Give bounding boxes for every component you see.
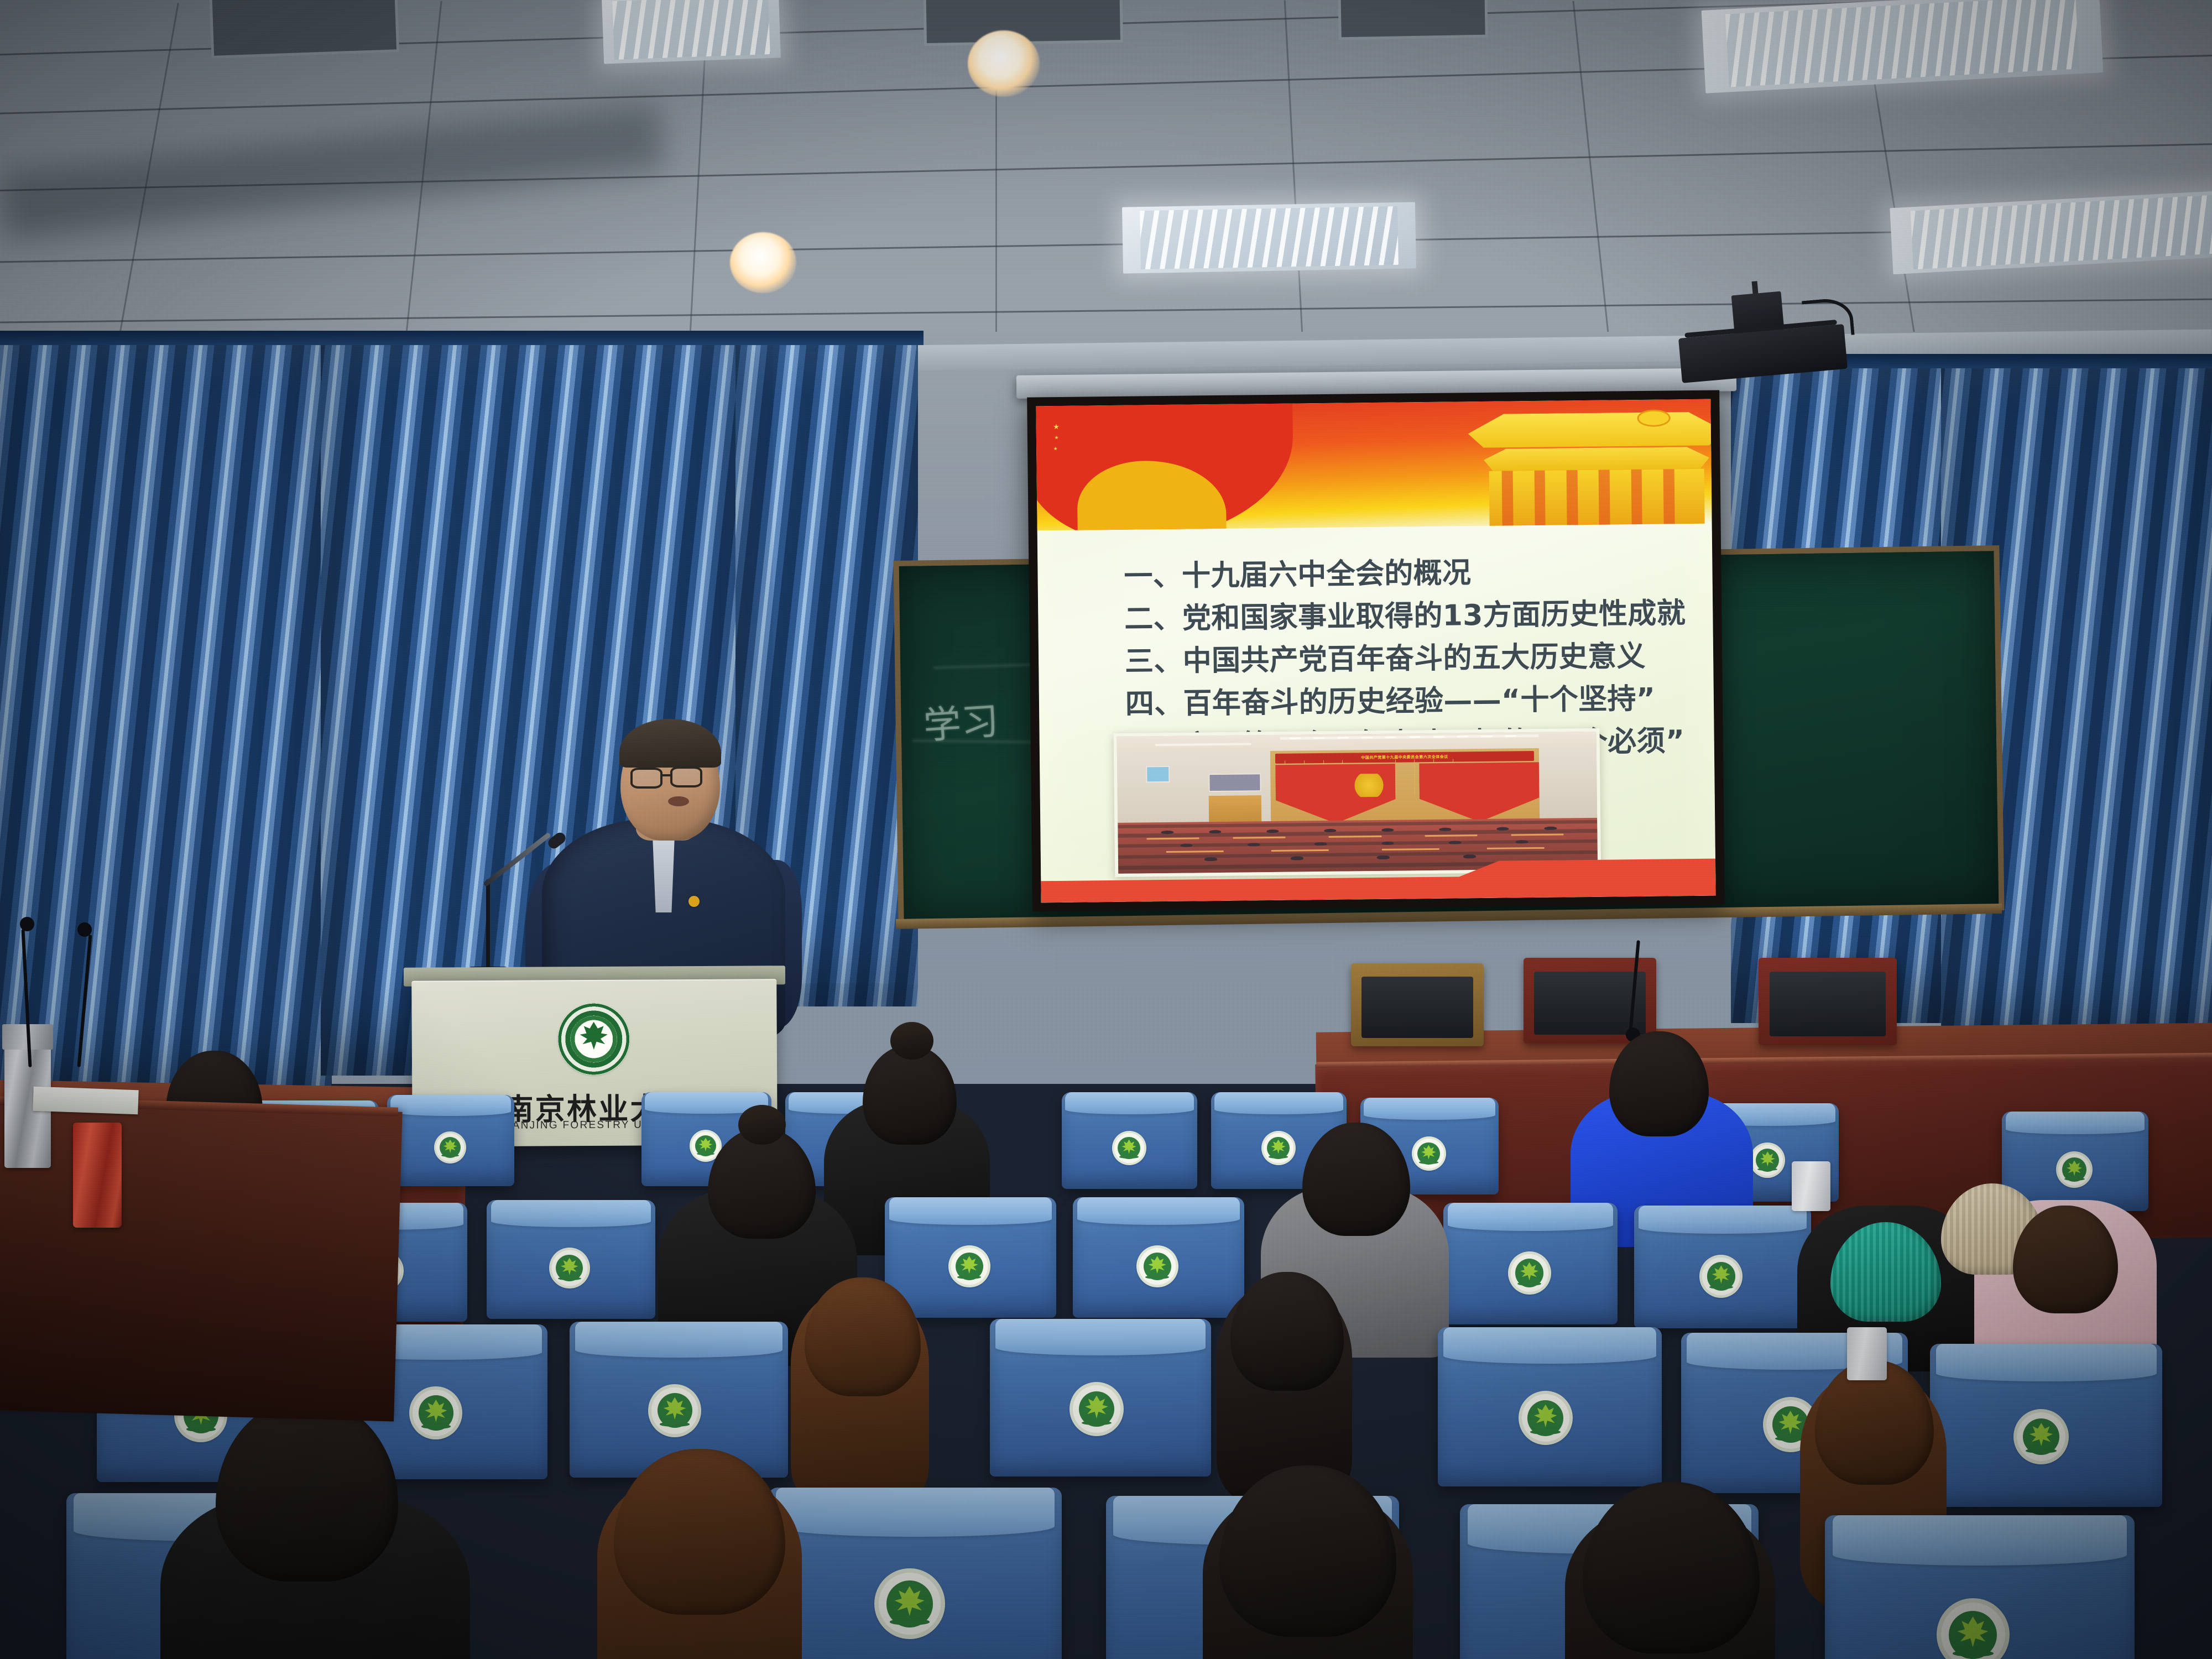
paper-sheet xyxy=(33,1087,138,1115)
seat-logo xyxy=(1937,1598,2010,1659)
seat-logo xyxy=(874,1568,945,1639)
stage-chair[interactable] xyxy=(1351,963,1484,1046)
seat-logo xyxy=(1519,1391,1573,1445)
auditorium-seat[interactable] xyxy=(769,1488,1062,1659)
slide-embedded-photo: 中国共产党第十九届中央委员会第六次全体会议 xyxy=(1114,728,1601,877)
presentation-slide: ★ ★ ★ xyxy=(1036,399,1715,903)
microphone-stand[interactable] xyxy=(486,879,490,973)
slide-agenda-item: 四、百年奋斗的历史经验——“十个坚持” xyxy=(1125,677,1670,726)
auditorium-seat[interactable] xyxy=(487,1200,655,1319)
star-icon: ★ xyxy=(1053,446,1058,451)
ceiling-light-panel xyxy=(1702,0,2104,93)
seat-logo xyxy=(648,1384,701,1437)
seat-logo xyxy=(1070,1382,1124,1436)
star-icon: ★ xyxy=(1054,435,1058,440)
tiananmen-gate-icon xyxy=(1468,404,1712,530)
auditorium-seat[interactable] xyxy=(990,1319,1211,1477)
seat-logo xyxy=(1699,1255,1743,1298)
party-emblem-icon xyxy=(1352,774,1386,797)
slide-header-banner: ★ ★ ★ xyxy=(1036,399,1712,530)
auditorium-seat[interactable] xyxy=(1438,1327,1662,1486)
podium-logo xyxy=(557,1003,630,1076)
stage-chair[interactable] xyxy=(1759,958,1897,1045)
recessed-downlight xyxy=(968,30,1040,97)
lapel-badge xyxy=(688,896,700,907)
slide-agenda-item: 二、党和国家事业取得的13方面历史性成就 xyxy=(1124,592,1670,640)
projection-screen[interactable]: ★ ★ ★ xyxy=(1027,390,1725,911)
seat-logo xyxy=(1412,1136,1446,1171)
mouth xyxy=(668,796,689,806)
auditorium-seat[interactable] xyxy=(885,1197,1056,1318)
seat-logo xyxy=(409,1386,462,1439)
ceiling-light-panel xyxy=(1122,202,1416,273)
auditorium-seat[interactable] xyxy=(1634,1206,1811,1328)
auditorium-seat[interactable] xyxy=(1443,1203,1618,1324)
recessed-downlight xyxy=(730,232,796,293)
seat-logo xyxy=(1508,1251,1551,1295)
lecture-hall-scene: 学习 ★ ★ ★ xyxy=(0,0,2212,1659)
white-cup[interactable] xyxy=(1847,1327,1887,1380)
auditorium-seat[interactable] xyxy=(1930,1344,2162,1507)
auditorium-seat[interactable] xyxy=(387,1095,514,1186)
ceiling-light-panel xyxy=(1890,190,2212,274)
eyeglass-bridge xyxy=(662,774,671,776)
seat-logo xyxy=(549,1248,590,1288)
desk-microphone-capsule xyxy=(20,917,34,931)
curtain-rail-left xyxy=(0,331,924,345)
desk-microphone-capsule xyxy=(77,922,92,937)
eyeglass-left xyxy=(630,768,662,789)
ceiling-projector xyxy=(1675,286,1848,383)
ceiling xyxy=(0,0,2212,354)
side-desk xyxy=(0,1100,403,1421)
seat-logo xyxy=(1112,1131,1146,1165)
curtain-far-left xyxy=(0,332,332,1106)
white-cup[interactable] xyxy=(1792,1161,1830,1211)
seat-logo xyxy=(2056,1151,2093,1188)
hair-bun xyxy=(738,1105,786,1145)
seat-logo xyxy=(1136,1245,1178,1287)
seat-logo xyxy=(1750,1142,1785,1178)
eyeglass-right xyxy=(670,766,702,787)
red-water-bottle[interactable] xyxy=(73,1123,122,1228)
hair-bun xyxy=(890,1022,933,1060)
ceiling-recess xyxy=(209,0,399,59)
ceiling-light-panel xyxy=(602,0,781,64)
auditorium-seat[interactable] xyxy=(1073,1197,1244,1318)
auditorium-seat[interactable] xyxy=(1062,1092,1197,1189)
star-icon: ★ xyxy=(1053,423,1060,430)
slide-agenda-item: 一、十九届六中全会的概况 xyxy=(1124,550,1669,598)
slide-agenda-item: 三、中国共产党百年奋斗的五大历史意义 xyxy=(1125,635,1670,683)
seat-logo xyxy=(1261,1131,1296,1165)
seat-logo xyxy=(434,1131,466,1164)
ceiling-recess xyxy=(1338,0,1488,40)
auditorium-seat[interactable] xyxy=(1825,1515,2135,1659)
seat-logo xyxy=(948,1245,990,1287)
seat-logo xyxy=(2013,1409,2069,1464)
